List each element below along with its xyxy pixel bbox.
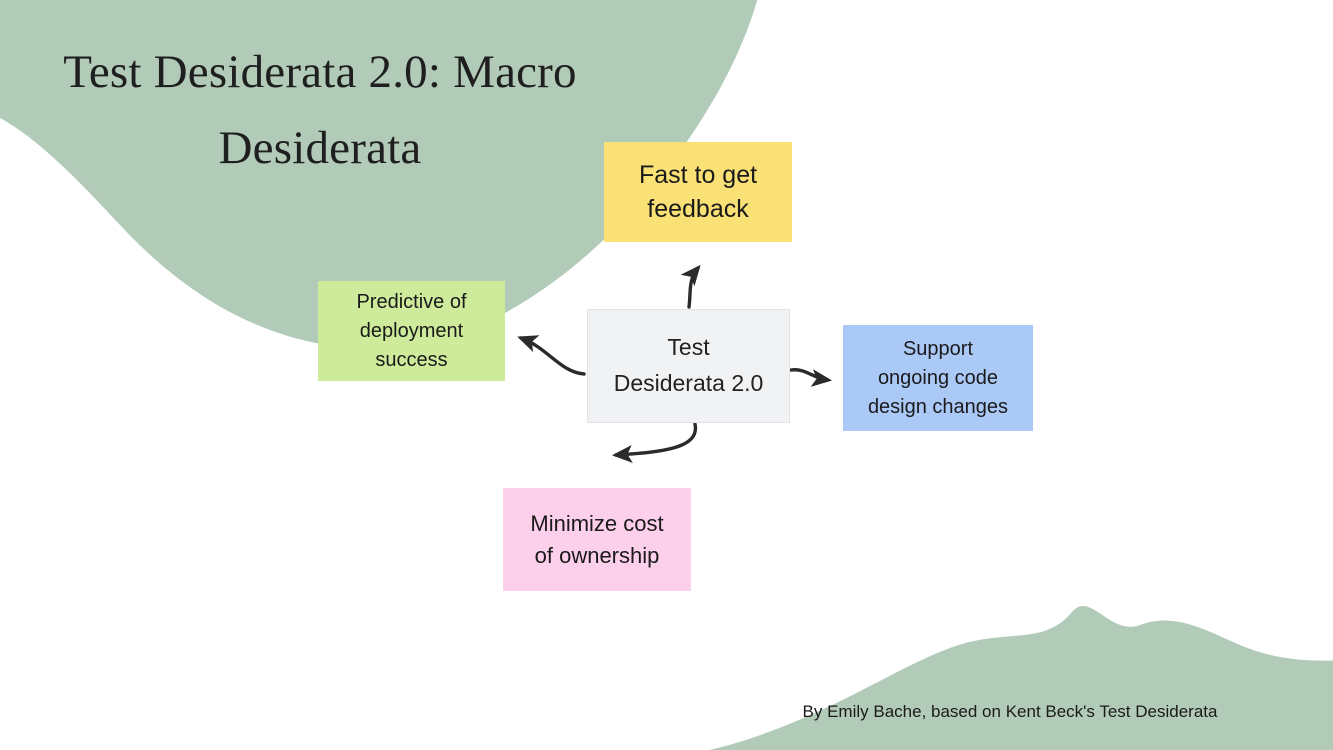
node-test-desiderata-center[interactable]: Test Desiderata 2.0	[587, 309, 790, 423]
page-title: Test Desiderata 2.0: Macro Desiderata	[40, 34, 600, 186]
attribution-footer: By Emily Bache, based on Kent Beck's Tes…	[700, 702, 1320, 722]
blob-bottom-right	[700, 606, 1333, 750]
arrow-center-to-predictive	[521, 338, 584, 374]
slide-canvas: Test Desiderata 2.0: Macro Desiderata Fa…	[0, 0, 1333, 750]
arrow-center-to-minimize	[616, 424, 695, 455]
arrow-center-to-fast	[689, 268, 698, 307]
node-support-ongoing-code-design-changes[interactable]: Support ongoing code design changes	[843, 325, 1033, 431]
node-fast-to-get-feedback[interactable]: Fast to get feedback	[604, 142, 792, 242]
arrow-center-to-support	[791, 370, 828, 380]
node-minimize-cost-of-ownership[interactable]: Minimize cost of ownership	[503, 488, 691, 591]
node-predictive-of-deployment-success[interactable]: Predictive of deployment success	[318, 281, 505, 381]
